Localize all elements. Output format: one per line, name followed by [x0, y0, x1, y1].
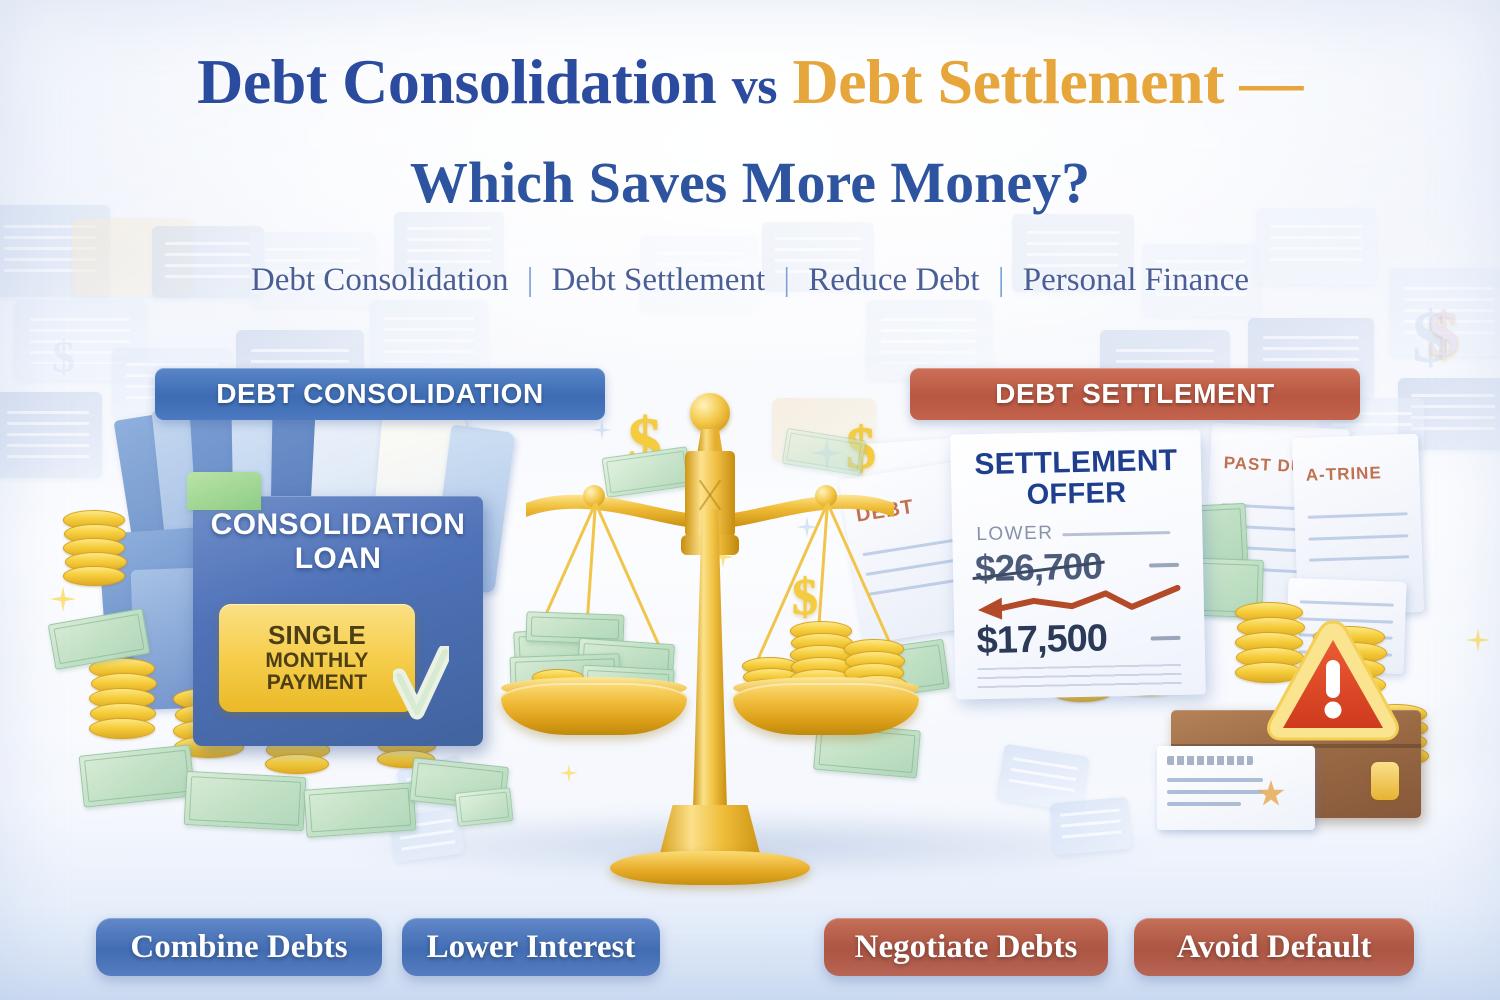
page-title-line1: Debt Consolidation vs Debt Settlement —: [0, 48, 1500, 115]
title-vs: vs: [732, 58, 777, 115]
pill-avoid-default[interactable]: Avoid Default: [1134, 918, 1414, 976]
pill-negotiate-debts[interactable]: Negotiate Debts: [824, 918, 1108, 976]
badge-debt-settlement: DEBT SETTLEMENT: [910, 368, 1360, 420]
amount-settled: $17,500: [976, 617, 1107, 663]
subtitle-item-3: Personal Finance: [1023, 262, 1249, 298]
coin: [265, 754, 329, 774]
banknote: [79, 744, 196, 807]
pill-combine-debts[interactable]: Combine Debts: [96, 918, 382, 976]
single-monthly-payment-tag: SINGLE MONTHLY PAYMENT: [219, 604, 415, 712]
banknote: [303, 782, 416, 838]
floating-dollar-icon: $: [1428, 300, 1459, 371]
coin: [63, 566, 125, 586]
infographic-canvas: $ $ Debt Consolidation vs Debt Settlemen…: [0, 0, 1500, 1000]
back-doc-label: A-TRINE: [1306, 463, 1403, 489]
subtitle-separator: |: [517, 262, 544, 298]
offer-title-line2: OFFER: [951, 477, 1202, 511]
offer-lower-label: LOWER: [976, 523, 1054, 547]
balance-scale-icon: [500, 385, 920, 885]
briefcase-clasp: [1371, 762, 1399, 800]
subtitle-keywords: Debt Consolidation | Debt Settlement | R…: [0, 262, 1500, 299]
title-part-settlement: Debt Settlement: [792, 46, 1223, 117]
pill-lower-interest[interactable]: Lower Interest: [402, 918, 660, 976]
subtitle-item-1: Debt Settlement: [552, 262, 766, 298]
check-mark-icon: [393, 646, 449, 730]
tag-text: SINGLE MONTHLY PAYMENT: [265, 622, 368, 693]
title-block: Debt Consolidation vs Debt Settlement — …: [0, 48, 1500, 216]
title-part-consolidation: Debt Consolidation: [197, 46, 716, 117]
tag-line3: PAYMENT: [267, 671, 368, 694]
document-scribble-title: [1167, 756, 1253, 765]
offer-lower-rule: [1062, 531, 1170, 536]
folder-title-line2: LOAN: [193, 544, 483, 574]
offer-dash: [1149, 563, 1179, 568]
sparkle-icon: [50, 586, 76, 612]
tag-line1: SINGLE: [265, 622, 368, 649]
page-title-line2: Which Saves More Money?: [0, 149, 1500, 216]
offer-title: SETTLEMENT OFFER: [951, 445, 1202, 511]
offer-footnote-lines: [977, 664, 1181, 690]
pan-dish: [501, 683, 687, 735]
settlement-illustration: DEBT DEBT PAST DUE A-TRINE: [935, 430, 1455, 870]
settlement-offer-card: SETTLEMENT OFFER LOWER $26,700 $17,500: [950, 429, 1205, 699]
offer-dash: [1151, 636, 1181, 641]
document-seal-icon: [1257, 780, 1285, 808]
sparkle-icon: [1466, 628, 1490, 652]
subtitle-item-2: Reduce Debt: [808, 262, 979, 298]
tag-line2: MONTHLY: [265, 649, 368, 672]
badge-debt-consolidation: DEBT CONSOLIDATION: [155, 368, 605, 420]
reduction-arrow-icon: [971, 582, 1184, 620]
coin: [89, 718, 155, 739]
subtitle-separator: |: [988, 262, 1015, 298]
offer-title-line1: SETTLEMENT: [974, 444, 1178, 481]
banknote: [184, 771, 307, 831]
folder-title: CONSOLIDATION LOAN: [193, 510, 483, 574]
subtitle-item-0: Debt Consolidation: [251, 262, 509, 298]
amount-original-value: $26,700: [975, 546, 1103, 590]
scale-finial: [690, 393, 730, 433]
scale-base: [610, 851, 810, 885]
warning-triangle-icon: [1263, 618, 1403, 744]
pan-dish: [733, 683, 919, 735]
title-dash: —: [1239, 46, 1303, 117]
subtitle-separator: |: [773, 262, 800, 298]
folder-title-line1: CONSOLIDATION: [211, 508, 466, 541]
folder-tab: [187, 472, 261, 510]
consolidation-loan-folder: CONSOLIDATION LOAN SINGLE MONTHLY PAYMEN…: [193, 496, 483, 746]
briefcase-document: [1157, 746, 1315, 830]
